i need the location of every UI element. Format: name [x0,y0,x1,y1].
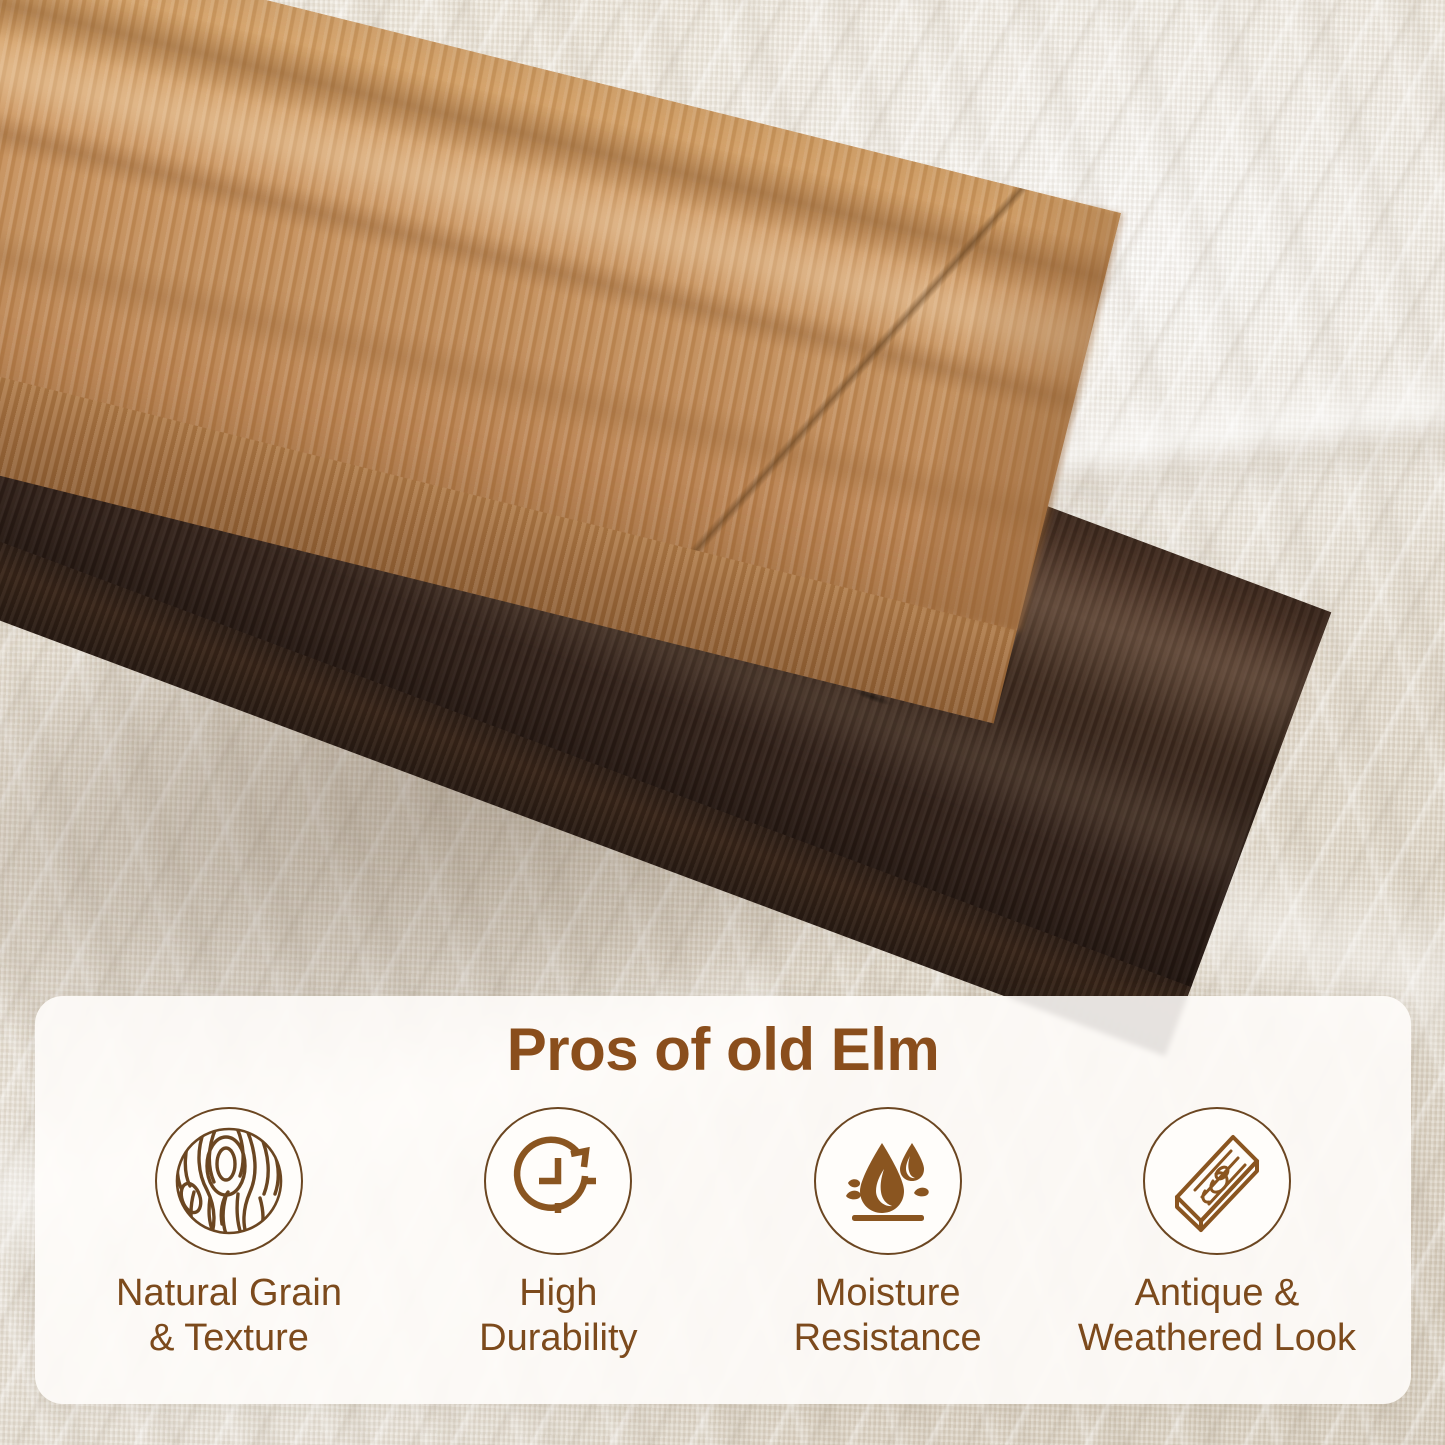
feature-icon-container [155,1107,303,1255]
feature-label: High Durability [479,1271,637,1361]
feature-antique-look: Antique & Weathered Look [1057,1107,1377,1361]
product-image: Pros of old Elm [0,0,1445,1445]
feature-icon-container [1143,1107,1291,1255]
feature-list: Natural Grain & Texture High [35,1107,1411,1361]
feature-moisture-resistance: Moisture Resistance [728,1107,1048,1361]
feature-icon-container [484,1107,632,1255]
wood-grain-icon [174,1126,284,1236]
wood-plank-icon [1165,1129,1269,1233]
feature-high-durability: High Durability [398,1107,718,1361]
feature-label: Moisture Resistance [794,1271,982,1361]
feature-icon-container [814,1107,962,1255]
clock-refresh-icon [508,1131,608,1231]
feature-label: Natural Grain & Texture [116,1271,342,1361]
feature-natural-grain: Natural Grain & Texture [69,1107,389,1361]
feature-label: Antique & Weathered Look [1078,1271,1356,1361]
pros-info-card: Pros of old Elm [35,996,1411,1404]
water-droplet-icon [836,1129,940,1233]
card-title: Pros of old Elm [507,1016,940,1083]
